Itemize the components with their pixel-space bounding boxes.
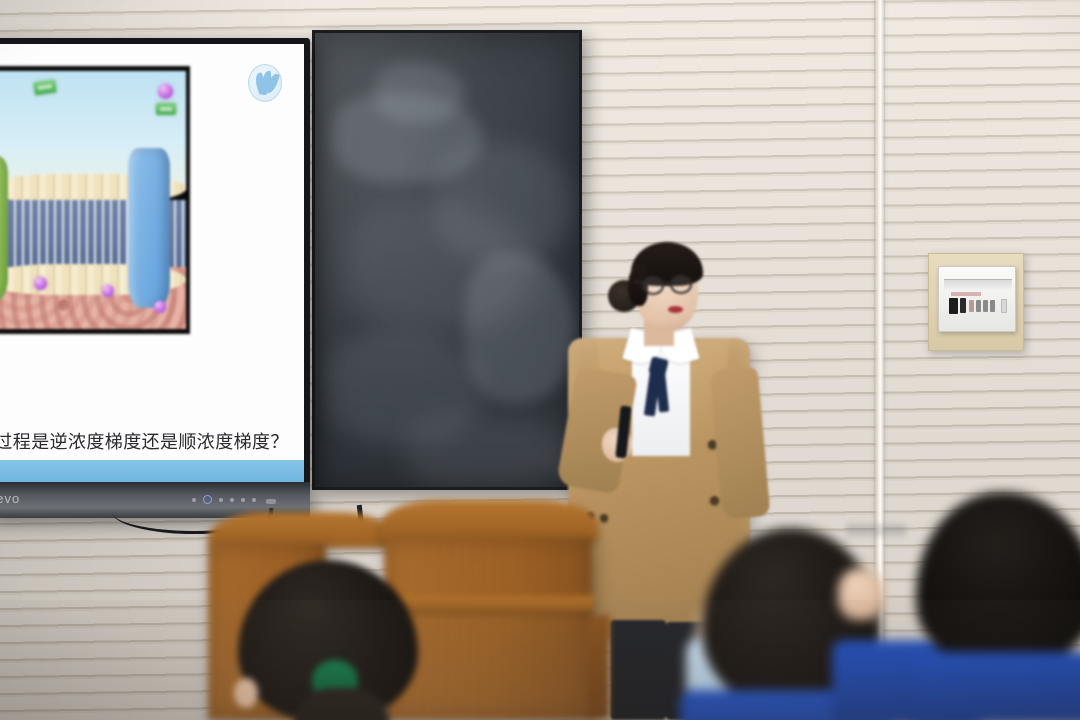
presentation-slide: 的过程是逆浓度梯度还是顺浓度梯度？ 度，能量来自于哪里？ (0, 44, 304, 482)
carrier-protein-green-icon (0, 156, 8, 300)
student-right-edge (916, 492, 1080, 720)
breaker-switch[interactable] (960, 298, 966, 313)
student-uniform (912, 652, 1080, 720)
breaker-switch[interactable] (983, 300, 988, 312)
main-breaker-switch[interactable] (949, 298, 958, 314)
breaker-switch[interactable] (1001, 299, 1007, 313)
student-front-ponytail (238, 560, 438, 720)
eyeglasses-lens-right (670, 275, 692, 294)
power-button[interactable] (192, 498, 196, 502)
coat-button (710, 496, 719, 505)
classroom-scene: 的过程是逆浓度梯度还是顺浓度梯度？ 度，能量来自于哪里？ eevo (0, 0, 1080, 720)
lectern-side-panel (588, 615, 610, 720)
student-raised-fist (838, 568, 884, 620)
cell-membrane-animation (0, 66, 190, 334)
display-brand-label: eevo (0, 491, 20, 506)
wood-panel-frame (928, 253, 1024, 351)
breaker-switch[interactable] (990, 300, 995, 312)
breaker-switch[interactable] (969, 300, 974, 312)
breaker-switch[interactable] (976, 300, 981, 312)
school-logo-icon (248, 64, 282, 102)
student-hair (916, 492, 1080, 668)
eyeglasses-bridge (663, 282, 671, 284)
eyeglasses-lens-left (642, 276, 664, 295)
breaker-slot (944, 279, 1012, 290)
flat-panel-display[interactable]: 的过程是逆浓度梯度还是顺浓度梯度？ 度，能量来自于哪里？ eevo (0, 38, 310, 518)
slide-question-line-1: 的过程是逆浓度梯度还是顺浓度梯度？ (0, 428, 289, 454)
teacher-lips (668, 306, 683, 313)
out-of-focus-wall-sign (846, 524, 906, 536)
teacher-trousers-left (610, 620, 666, 720)
lectern-top-left (208, 512, 396, 548)
display-screen: 的过程是逆浓度梯度还是顺浓度梯度？ 度，能量来自于哪里？ (0, 44, 304, 482)
slide-footer-bar (0, 460, 304, 482)
ion-particle (154, 301, 166, 313)
energy-molecule-tag (156, 103, 176, 115)
breaker-label-strip (951, 292, 981, 296)
student-ear (234, 678, 258, 708)
ion-particle (158, 84, 173, 99)
electrical-breaker-panel[interactable] (938, 266, 1016, 332)
lectern-top-right (380, 500, 598, 542)
channel-protein-blue-icon (128, 148, 170, 308)
